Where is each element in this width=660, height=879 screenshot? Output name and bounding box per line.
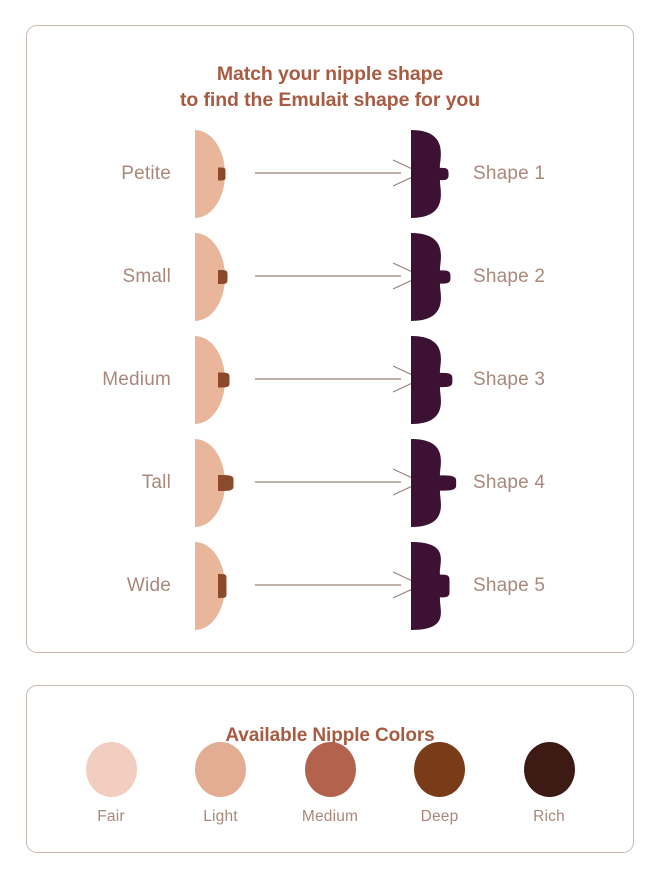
color-swatch-dot[interactable] xyxy=(414,742,465,797)
color-swatch-label: Deep xyxy=(421,808,459,826)
color-swatch-list: FairLightMediumDeepRich xyxy=(27,742,633,826)
bottle-nipple-illustration xyxy=(405,433,477,533)
available-colors-panel: Available Nipple Colors FairLightMediumD… xyxy=(26,685,634,853)
color-swatch-label: Light xyxy=(203,808,238,826)
nipple-shape-label: Small xyxy=(27,266,187,288)
color-swatch-item[interactable]: Medium xyxy=(282,742,378,826)
bottle-nipple-illustration xyxy=(405,227,477,327)
matched-shape-label: Shape 1 xyxy=(473,163,633,185)
match-panel-title: Match your nipple shape to find the Emul… xyxy=(27,61,633,113)
nipple-shape-label: Petite xyxy=(27,163,187,185)
nipple-shape-label: Wide xyxy=(27,575,187,597)
shape-match-row: PetiteShape 1 xyxy=(27,122,633,225)
color-swatch-item[interactable]: Rich xyxy=(501,742,597,826)
color-swatch-dot[interactable] xyxy=(305,742,356,797)
color-swatch-item[interactable]: Light xyxy=(173,742,269,826)
breast-nipple-illustration xyxy=(185,330,257,430)
breast-nipple-illustration xyxy=(185,433,257,533)
bottle-nipple-illustration xyxy=(405,330,477,430)
matched-shape-label: Shape 2 xyxy=(473,266,633,288)
color-swatch-dot[interactable] xyxy=(86,742,137,797)
match-shape-panel: Match your nipple shape to find the Emul… xyxy=(26,25,634,653)
color-swatch-label: Medium xyxy=(302,808,358,826)
arrow-right-icon xyxy=(255,359,423,399)
bottle-nipple-illustration xyxy=(405,536,477,636)
matched-shape-label: Shape 4 xyxy=(473,472,633,494)
color-swatch-label: Rich xyxy=(533,808,565,826)
shape-match-row: SmallShape 2 xyxy=(27,225,633,328)
nipple-shape-label: Tall xyxy=(27,472,187,494)
matched-shape-label: Shape 3 xyxy=(473,369,633,391)
breast-nipple-illustration xyxy=(185,124,257,224)
arrow-right-icon xyxy=(255,256,423,296)
matched-shape-label: Shape 5 xyxy=(473,575,633,597)
color-swatch-item[interactable]: Fair xyxy=(63,742,159,826)
shape-match-row: MediumShape 3 xyxy=(27,328,633,431)
shape-match-row: WideShape 5 xyxy=(27,534,633,637)
color-swatch-dot[interactable] xyxy=(195,742,246,797)
color-swatch-item[interactable]: Deep xyxy=(392,742,488,826)
color-swatch-label: Fair xyxy=(97,808,125,826)
shape-match-rows: PetiteShape 1SmallShape 2MediumShape 3Ta… xyxy=(27,122,633,637)
bottle-nipple-illustration xyxy=(405,124,477,224)
arrow-right-icon xyxy=(255,153,423,193)
infographic-page: Match your nipple shape to find the Emul… xyxy=(0,0,660,879)
arrow-right-icon xyxy=(255,565,423,605)
color-swatch-dot[interactable] xyxy=(524,742,575,797)
shape-match-row: TallShape 4 xyxy=(27,431,633,534)
nipple-shape-label: Medium xyxy=(27,369,187,391)
arrow-right-icon xyxy=(255,462,423,502)
breast-nipple-illustration xyxy=(185,536,257,636)
breast-nipple-illustration xyxy=(185,227,257,327)
